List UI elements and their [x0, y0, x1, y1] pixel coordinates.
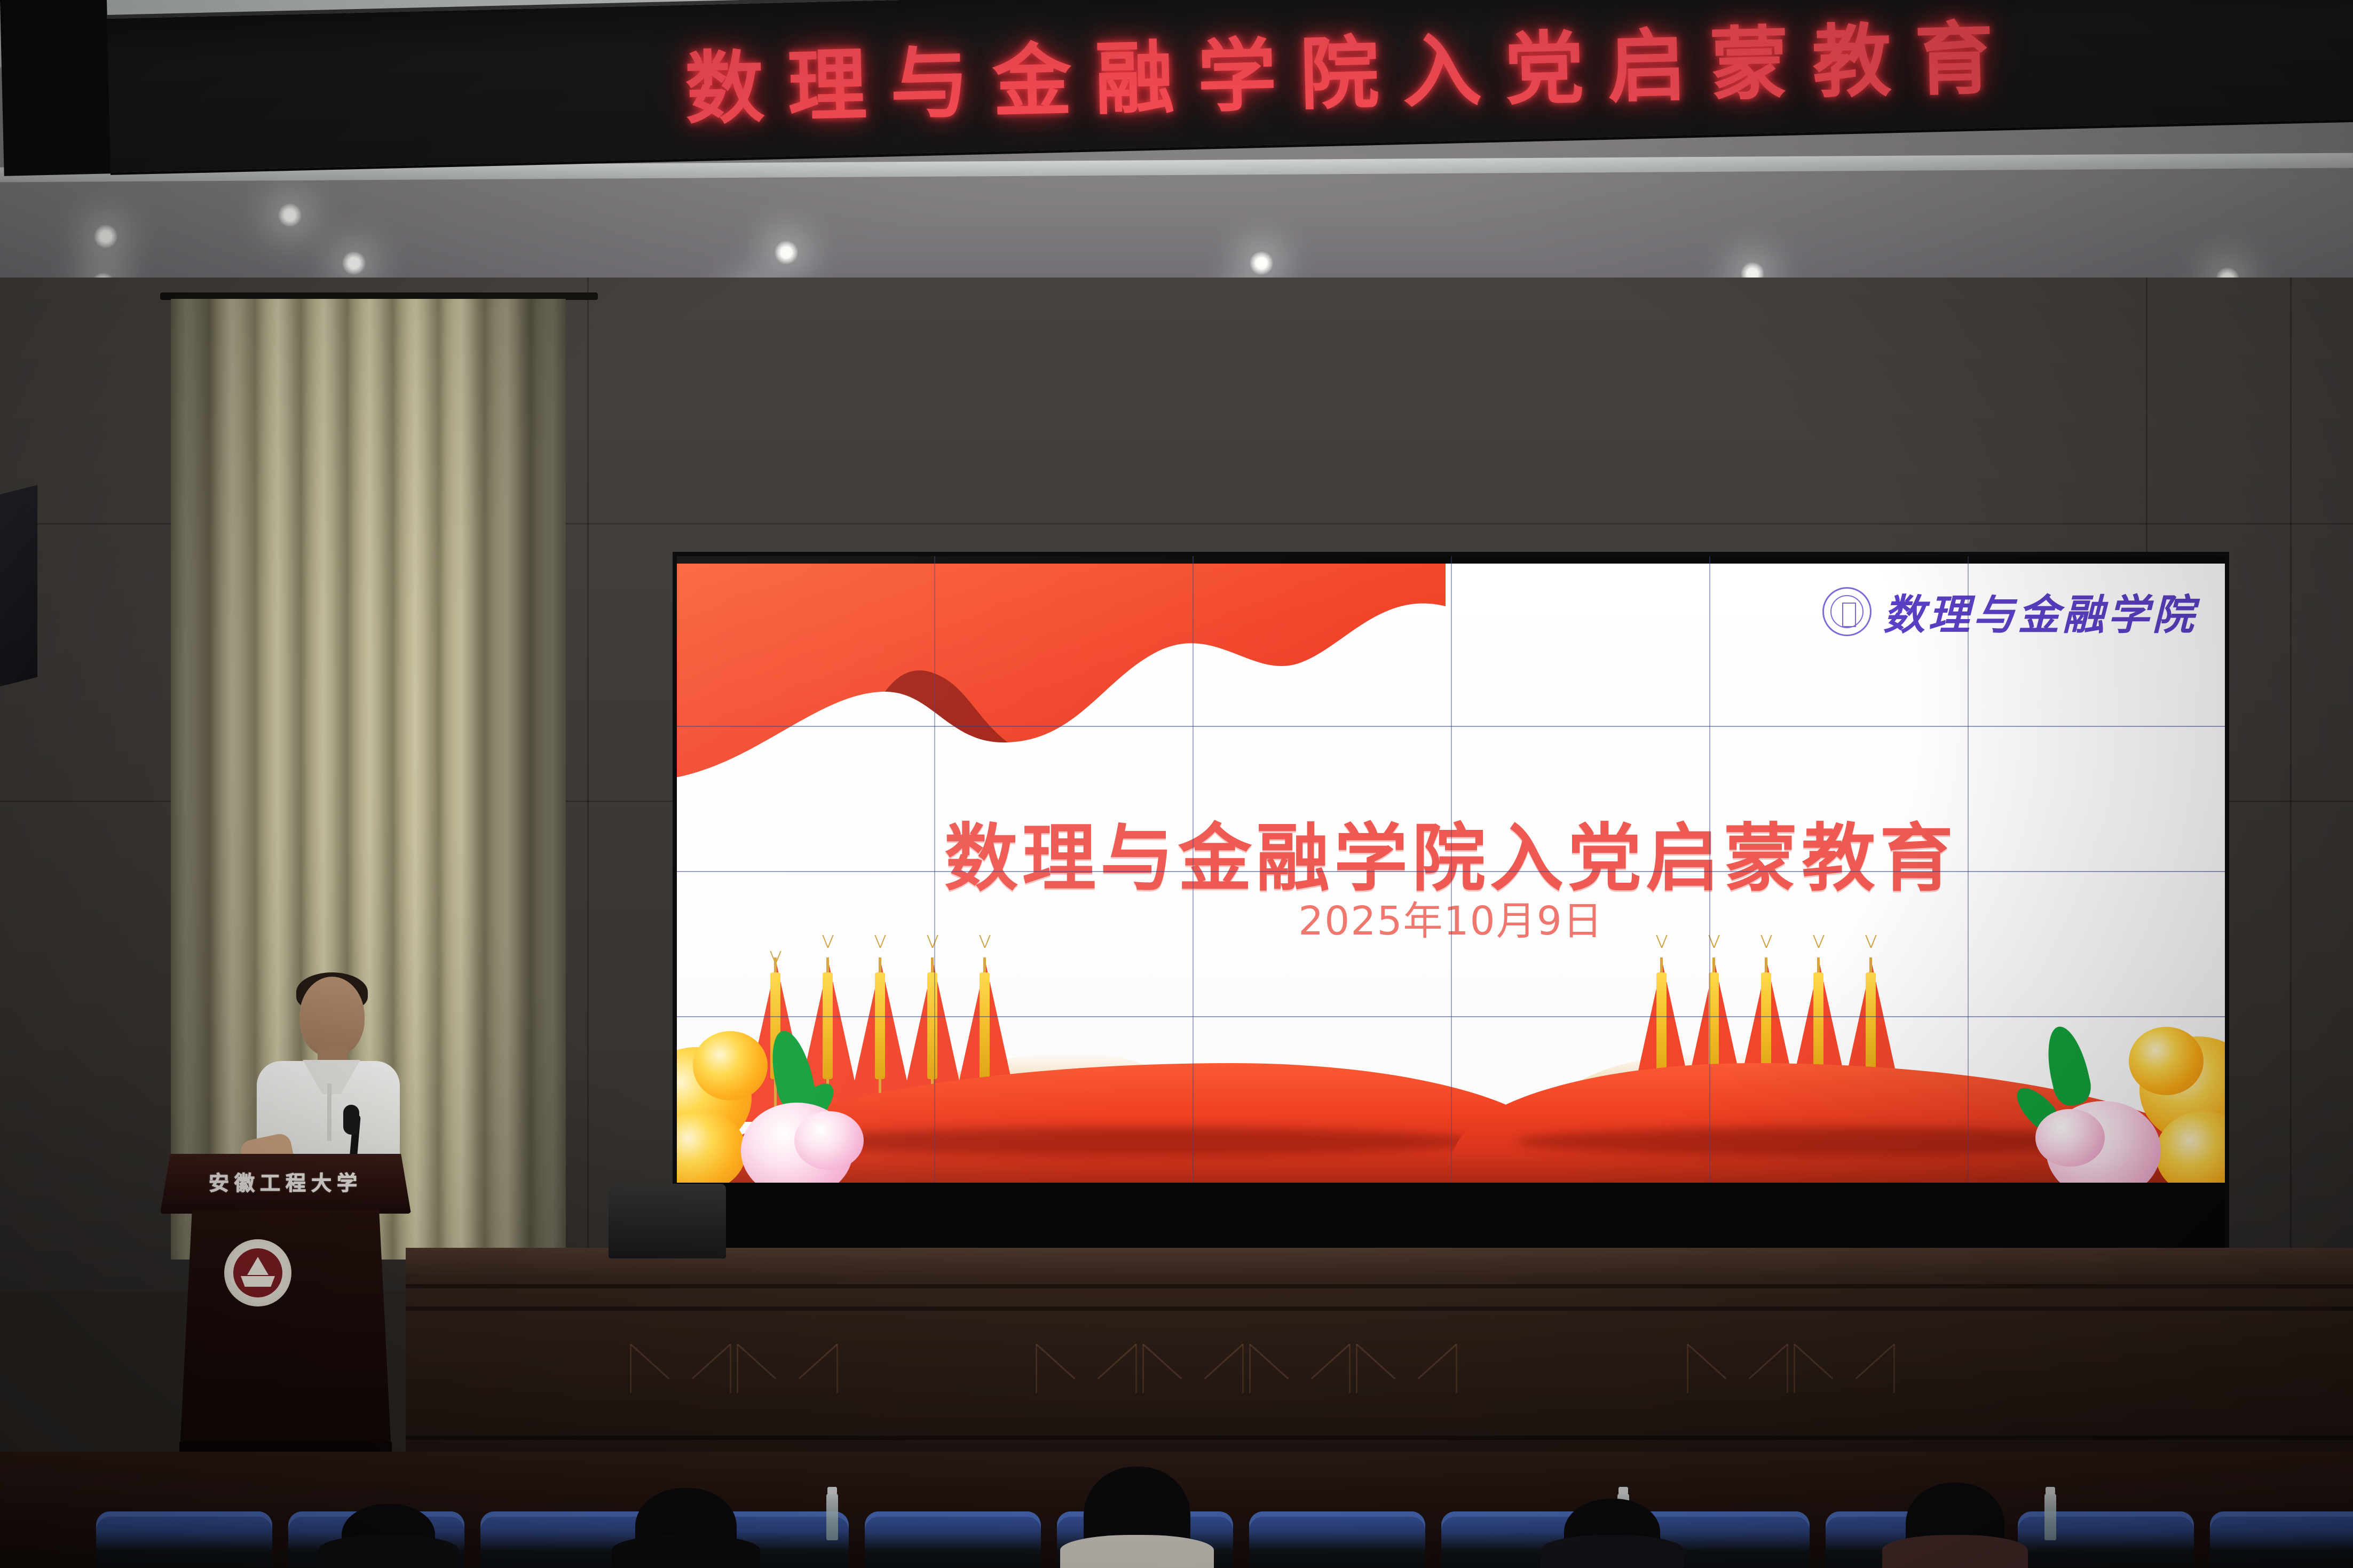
audience-seat: [865, 1511, 1041, 1568]
ceiling-downlight: [93, 224, 118, 249]
podium-institution-label: 安徽工程大学: [160, 1167, 411, 1196]
bottle-cap: [827, 1487, 837, 1494]
stage-front-panel: [406, 1276, 2353, 1478]
presenter-head: [299, 977, 365, 1057]
stage-chevron-motif: [1794, 1344, 1895, 1393]
lectern-podium: 安徽工程大学: [160, 1154, 411, 1474]
bottle-cap: [1618, 1487, 1628, 1494]
stage-chevron-motif: [1356, 1344, 1457, 1393]
audience-seat: [1249, 1511, 1425, 1568]
audience-shoulders: [1060, 1535, 1214, 1568]
university-emblem: [224, 1239, 291, 1306]
water-bottle: [2044, 1493, 2056, 1540]
led-banner-left-cap: [0, 0, 111, 176]
led-screen-sheen: [677, 556, 2225, 1261]
audience-shoulders: [318, 1535, 459, 1568]
ceiling-downlight: [278, 203, 302, 227]
bottle-cap: [2046, 1487, 2055, 1494]
audience-member: [1906, 1483, 2004, 1568]
audience-member: [342, 1504, 435, 1568]
water-bottle: [826, 1493, 838, 1540]
podium-top-panel: 安徽工程大学: [160, 1154, 411, 1214]
stage-trim-band: [406, 1436, 2353, 1440]
audience-member: [1564, 1499, 1660, 1568]
microphone-icon: [343, 1105, 359, 1135]
audience-shoulders: [1541, 1535, 1684, 1568]
audience-member: [635, 1488, 737, 1568]
audience-member: [1084, 1467, 1190, 1568]
audience-shoulders: [612, 1535, 760, 1568]
audience-seating-area: [0, 1452, 2353, 1568]
stage-trim-band: [406, 1284, 2353, 1288]
wall-seam: [2290, 278, 2292, 1292]
wall-seam: [587, 278, 589, 1292]
auditorium-photo-scene: 数理与金融学院入党启蒙教育: [0, 0, 2353, 1568]
wall-speaker: [0, 485, 37, 689]
stage-trim-band: [406, 1306, 2353, 1311]
stage-equipment-case: [609, 1184, 726, 1258]
stage-chevron-motif: [737, 1344, 838, 1393]
audience-shoulders: [1882, 1535, 2028, 1568]
led-video-wall[interactable]: 数理与金融学院 数理与金融学院入党启蒙教育 2025年10月9日: [677, 556, 2225, 1261]
podium-body: [179, 1209, 392, 1460]
audience-seat: [2210, 1511, 2353, 1568]
ceiling-downlight: [774, 240, 799, 265]
emblem-crest-icon: [233, 1248, 282, 1297]
ceiling-downlight: [342, 251, 366, 275]
ceiling-downlight: [1249, 251, 1274, 275]
presenter-shirt-placket: [327, 1083, 331, 1141]
led-banner-text: 数理与金融学院入党启蒙教育: [684, 0, 2018, 139]
audience-seat: [96, 1511, 272, 1568]
